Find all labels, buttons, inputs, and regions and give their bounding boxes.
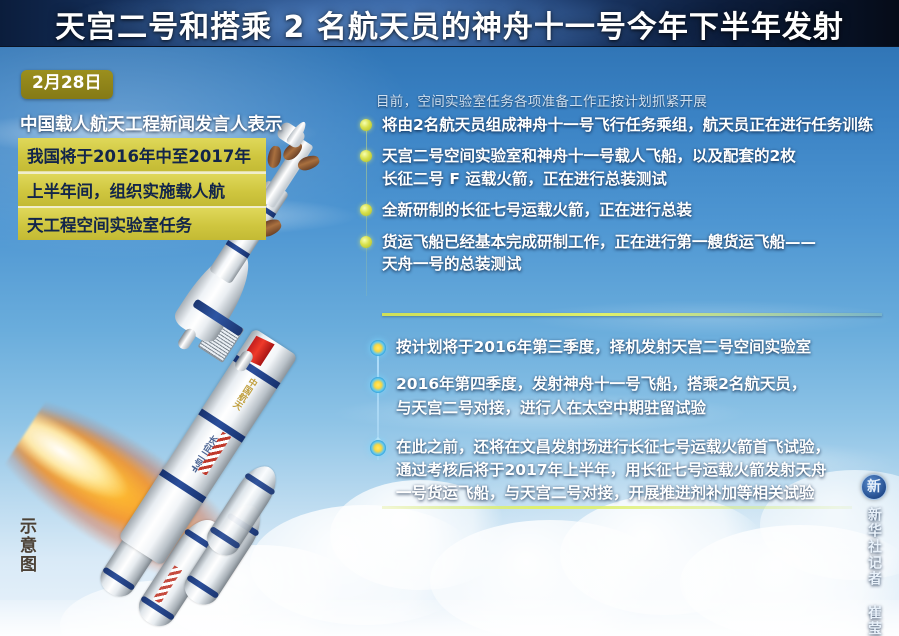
bullet-text: 2016年第四季度，发射神舟十一号飞船，搭乘2名航天员， 与天宫二号对接，进行人…: [396, 373, 892, 420]
bullet-text: 货运飞船已经基本完成研制工作，正在进行第一艘货运飞船—— 天舟一号的总装测试: [382, 231, 892, 276]
bullet-dot-icon: [360, 119, 372, 131]
page-title: 天宫二号和搭乘 2 名航天员的神舟十一号今年下半年发射: [0, 0, 899, 47]
bullet-glow-icon: [370, 377, 386, 393]
status-lead-text: 目前，空间实验室任务各项准备工作正按计划抓紧开展: [376, 90, 888, 110]
bullet-glow-icon: [370, 340, 386, 356]
date-badge: 2月28日: [21, 70, 113, 99]
list-item: 按计划将于2016年第三季度，择机发射天宫二号空间实验室: [368, 336, 892, 359]
bullet-dot-icon: [360, 150, 372, 162]
plan-bullet-list: 按计划将于2016年第三季度，择机发射天宫二号空间实验室 2016年第四季度，发…: [368, 336, 892, 520]
illustration-note: 示意图: [11, 517, 35, 574]
credit-text: 新华社记者 崔莹 编制: [864, 507, 884, 636]
list-item: 天宫二号空间实验室和神舟十一号载人飞船，以及配套的2枚 长征二号 F 运载火箭，…: [360, 145, 892, 190]
list-item: 2016年第四季度，发射神舟十一号飞船，搭乘2名航天员， 与天宫二号对接，进行人…: [368, 373, 892, 420]
infographic-root: 中国航天 长征二号F 天宫二号和搭乘 2 名航天员的神舟十一号今年下半年发射: [0, 0, 899, 636]
section-divider: [382, 313, 882, 316]
list-item: 全新研制的长征七号运载火箭，正在进行总装: [360, 199, 892, 221]
xinhua-logo-icon: 新: [861, 474, 887, 500]
statement-line: 天工程空间实验室任务: [18, 206, 266, 240]
credit-block: 新 新华社记者 崔莹 编制: [859, 474, 889, 636]
section-divider-bottom: [382, 506, 852, 509]
bullet-text: 将由2名航天员组成神舟十一号飞行任务乘组，航天员正在进行任务训练: [382, 114, 892, 136]
bullet-dot-icon: [360, 236, 372, 248]
speaker-line: 中国载人航天工程新闻发言人表示: [20, 111, 320, 136]
bullet-text: 在此之前，还将在文昌发射场进行长征七号运载火箭首飞试验， 通过考核后将于2017…: [396, 436, 892, 506]
status-bullet-list: 将由2名航天员组成神舟十一号飞行任务乘组，航天员正在进行任务训练 天宫二号空间实…: [360, 114, 892, 285]
cloud-wisp: [520, 300, 899, 336]
list-item: 在此之前，还将在文昌发射场进行长征七号运载火箭首飞试验， 通过考核后将于2017…: [368, 436, 892, 506]
list-item: 将由2名航天员组成神舟十一号飞行任务乘组，航天员正在进行任务训练: [360, 114, 892, 136]
list-item: 货运飞船已经基本完成研制工作，正在进行第一艘货运飞船—— 天舟一号的总装测试: [360, 231, 892, 276]
title-bar: 天宫二号和搭乘 2 名航天员的神舟十一号今年下半年发射: [0, 0, 899, 47]
statement-line: 我国将于2016年中至2017年: [18, 138, 266, 172]
bullet-text: 全新研制的长征七号运载火箭，正在进行总装: [382, 199, 892, 221]
bullet-text: 天宫二号空间实验室和神舟十一号载人飞船，以及配套的2枚 长征二号 F 运载火箭，…: [382, 145, 892, 190]
statement-line: 上半年间，组织实施载人航: [18, 172, 266, 206]
statement-bars: 我国将于2016年中至2017年 上半年间，组织实施载人航 天工程空间实验室任务: [18, 138, 266, 240]
cloud-base-haze: [0, 600, 899, 636]
bullet-text: 按计划将于2016年第三季度，择机发射天宫二号空间实验室: [396, 336, 892, 359]
bullet-dot-icon: [360, 204, 372, 216]
bullet-glow-icon: [370, 440, 386, 456]
